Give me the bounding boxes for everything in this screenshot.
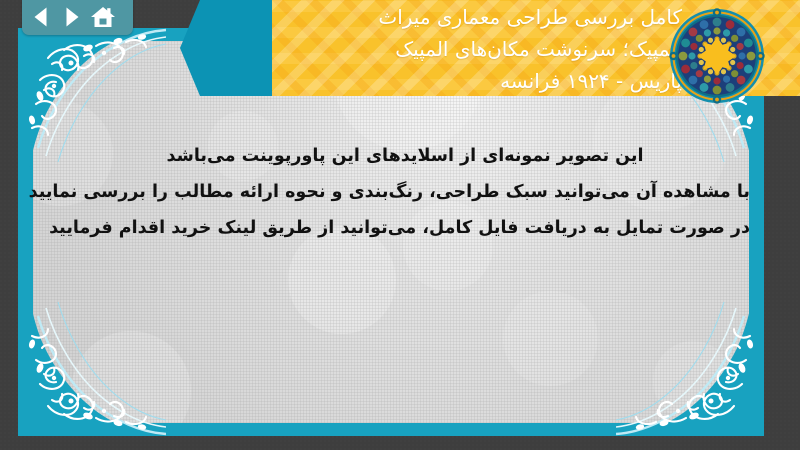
bokeh-circle [71,331,191,423]
body-line-1: این تصویر نمونه‌ای از اسلایدهای این پاور… [60,138,750,174]
triangle-right-icon [59,4,85,30]
title-line-3: پاریس - ۱۹۲۴ فرانسه [252,65,682,97]
slide-body: این تصویر نمونه‌ای از اسلایدهای این پاور… [60,138,750,246]
triangle-left-icon [28,4,54,30]
title-line-2: المپیک؛ سرنوشت مکان‌های المپیک [252,33,682,65]
previous-slide-button[interactable] [28,4,54,30]
slide-navigation-bar [22,0,133,35]
page-title: کامل بررسی طراحی معماری میراث المپیک؛ سر… [252,1,682,97]
bokeh-circle [653,341,733,421]
home-button[interactable] [90,4,116,30]
bokeh-circle [503,291,598,386]
home-icon [90,4,116,30]
ornamental-medallion-icon [667,6,767,106]
title-line-1: کامل بررسی طراحی معماری میراث [252,1,682,33]
body-line-2: با مشاهده آن می‌توانید سبک طراحی، رنگ‌بن… [60,174,750,210]
body-line-3: در صورت تمایل به دریافت فایل کامل، می‌تو… [60,210,750,246]
next-slide-button[interactable] [59,4,85,30]
presentation-slide: کامل بررسی طراحی معماری میراث المپیک؛ سر… [0,0,800,450]
